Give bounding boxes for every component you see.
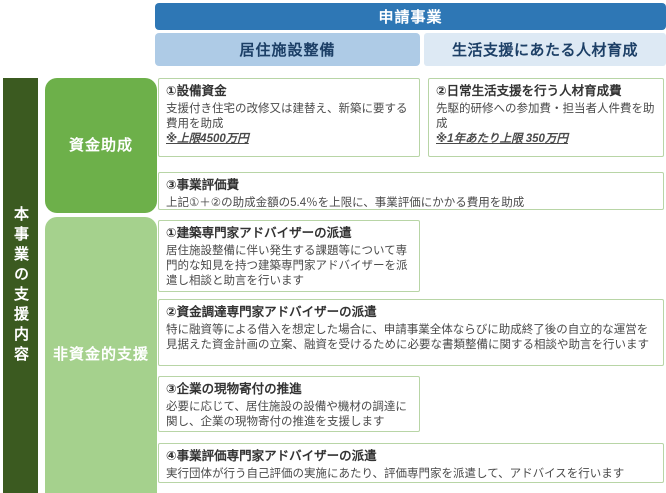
cell-funding-installation-body: 支援付き住宅の改修又は建替え、新築に要する費用を助成 — [166, 102, 413, 133]
sidebar-vertical-title-text: 本事業の支援内容 — [13, 206, 28, 366]
cell-nonfunding-evaluation-title: ④事業評価専門家アドバイザーの派遣 — [166, 448, 657, 466]
cell-funding-training: ②日常生活支援を行う人材育成費 先駆的研修への参加費・担当者人件費を助成 ※1年… — [428, 78, 664, 157]
cell-nonfunding-evaluation: ④事業評価専門家アドバイザーの派遣 実行団体が行う自己評価の実施にあたり、評価専… — [158, 443, 664, 483]
column-header-human-resource-development: 生活支援にあたる人材育成 — [424, 33, 666, 66]
cell-funding-evaluation-title: ③事業評価費 — [166, 177, 657, 195]
support-matrix-diagram: 申請事業 居住施設整備 生活支援にあたる人材育成 本事業の支援内容 資金助成 非… — [0, 0, 666, 493]
cell-funding-training-title: ②日常生活支援を行う人材育成費 — [436, 83, 657, 101]
cell-nonfunding-finance-body: 特に融資等による借入を想定した場合に、申請事業全体ならびに助成終了後の自立的な運… — [166, 323, 657, 354]
category-nonfinancial-support: 非資金的支援 — [45, 217, 157, 493]
cell-funding-evaluation-body: 上記①＋②の助成金額の5.4％を上限に、事業評価にかかる費用を助成 — [166, 196, 657, 211]
cell-nonfunding-architect: ①建築専門家アドバイザーの派遣 居住施設整備に伴い発生する課題等について専門的な… — [158, 220, 420, 292]
cell-nonfunding-finance-title: ②資金調達専門家アドバイザーの派遣 — [166, 304, 657, 322]
cell-nonfunding-architect-title: ①建築専門家アドバイザーの派遣 — [166, 225, 413, 243]
cell-funding-installation: ①設備資金 支援付き住宅の改修又は建替え、新築に要する費用を助成 ※上限4500… — [158, 78, 420, 157]
category-funding-support: 資金助成 — [45, 78, 157, 213]
category-funding-support-label: 資金助成 — [69, 135, 133, 157]
cell-nonfunding-evaluation-body: 実行団体が行う自己評価の実施にあたり、評価専門家を派遣して、アドバイスを行います — [166, 467, 657, 482]
column-header-residential-facility: 居住施設整備 — [155, 33, 420, 66]
cell-funding-installation-title: ①設備資金 — [166, 83, 413, 101]
cell-funding-training-note: ※1年あたり上限 350万円 — [436, 132, 568, 147]
cell-funding-evaluation: ③事業評価費 上記①＋②の助成金額の5.4％を上限に、事業評価にかかる費用を助成 — [158, 172, 664, 210]
category-nonfinancial-support-label: 非資金的支援 — [53, 344, 149, 366]
cell-funding-training-body: 先駆的研修への参加費・担当者人件費を助成 — [436, 102, 657, 133]
cell-nonfunding-finance: ②資金調達専門家アドバイザーの派遣 特に融資等による借入を想定した場合に、申請事… — [158, 299, 664, 366]
cell-nonfunding-architect-body: 居住施設整備に伴い発生する課題等について専門的な知見を持つ建築専門家アドバイザー… — [166, 244, 413, 290]
cell-nonfunding-inkind-title: ③企業の現物寄付の推進 — [166, 381, 413, 399]
header-main-title: 申請事業 — [155, 3, 666, 30]
sidebar-vertical-title: 本事業の支援内容 — [3, 78, 38, 493]
cell-nonfunding-inkind-body: 必要に応じて、居住施設の設備や機材の調達に関し、企業の現物寄付の推進を支援します — [166, 400, 413, 431]
cell-nonfunding-inkind: ③企業の現物寄付の推進 必要に応じて、居住施設の設備や機材の調達に関し、企業の現… — [158, 376, 420, 432]
cell-funding-installation-note: ※上限4500万円 — [166, 132, 249, 147]
